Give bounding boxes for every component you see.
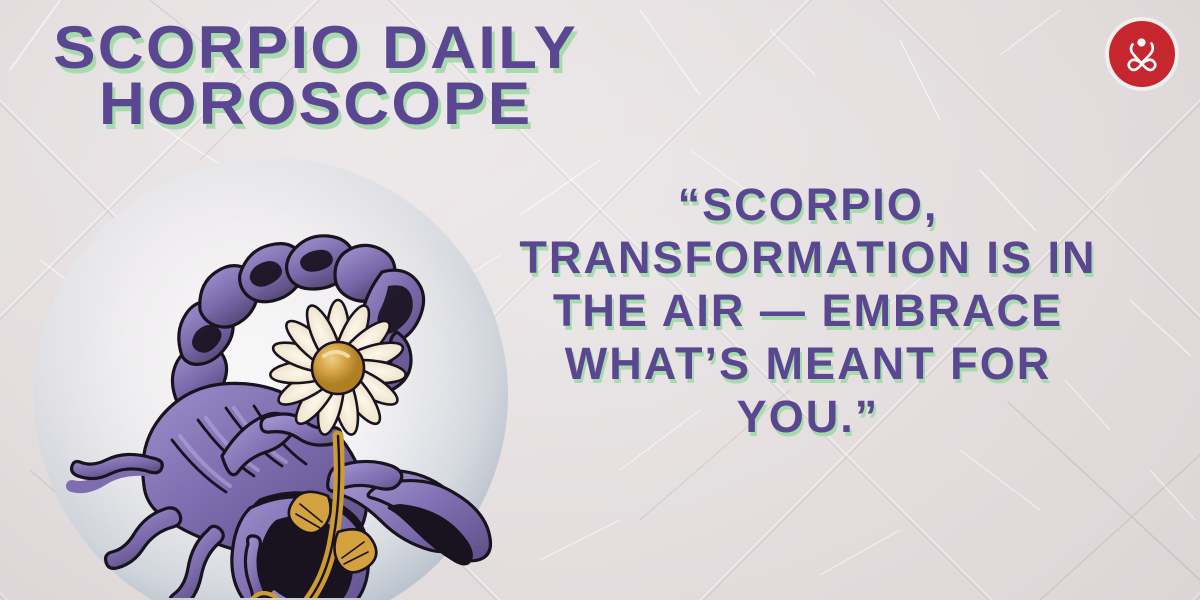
quote-line-1: “SCORPIO, — [678, 179, 939, 230]
infinity-heart-icon — [1119, 31, 1165, 77]
quote-line-5: YOU.” — [737, 391, 880, 442]
horoscope-banner: SCORPIO DAILY HOROSCOPE “SCORPIO, TRANSF… — [0, 0, 1200, 600]
quote-line-4: WHAT’S MEANT FOR — [565, 338, 1052, 389]
logo-dot — [1137, 38, 1145, 46]
page-title: SCORPIO DAILY HOROSCOPE — [40, 20, 591, 132]
quote-line-3: THE AIR — EMBRACE — [553, 285, 1063, 336]
brand-logo[interactable] — [1109, 21, 1175, 87]
title-line-2: HOROSCOPE — [40, 76, 591, 132]
quote-line-2: TRANSFORMATION IS IN — [519, 232, 1096, 283]
scorpion-illustration — [48, 168, 498, 598]
horoscope-quote: “SCORPIO, TRANSFORMATION IS IN THE AIR —… — [484, 178, 1132, 443]
title-line-1: SCORPIO DAILY — [40, 20, 591, 76]
